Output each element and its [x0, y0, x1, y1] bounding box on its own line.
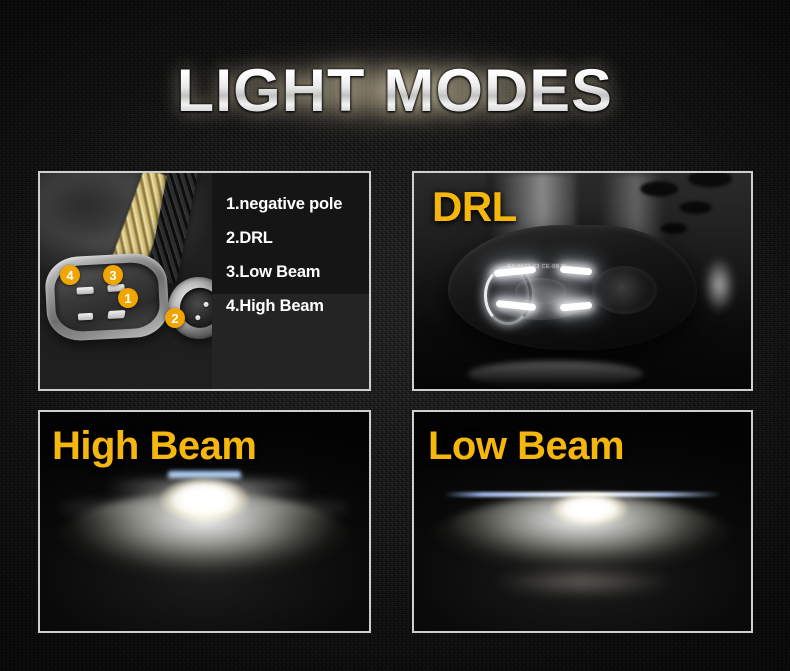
beam-hotspot	[549, 493, 630, 528]
page-title: LIGHT MODES	[177, 61, 613, 121]
lens-etching-text: E0 0674 03 CE-09 PL	[508, 264, 569, 270]
panel-label-drl: DRL	[432, 183, 517, 231]
legend-item: 1.negative pole	[226, 195, 369, 214]
beam-hotspot	[158, 478, 250, 526]
connector-pin	[203, 302, 209, 308]
beam-lower-falloff	[461, 570, 704, 609]
panel-label-high-beam: High Beam	[52, 424, 256, 469]
callout-badge-2: 2	[165, 308, 185, 328]
panel-connector-legend: 4 3 1 2 1.negative pole 2.DRL 3.Low Beam…	[38, 171, 371, 391]
connector-pin	[76, 287, 93, 295]
connector-pin	[78, 313, 93, 321]
callout-badge-4: 4	[60, 265, 80, 285]
panel-label-low-beam: Low Beam	[428, 424, 624, 469]
ground-reflection	[468, 361, 643, 387]
callout-badge-1: 1	[118, 288, 138, 308]
background-highlight	[697, 246, 741, 324]
connector-pin	[195, 315, 201, 321]
legend-item: 3.Low Beam	[226, 263, 369, 282]
panel-drl: E0 0674 03 CE-09 PL DRL	[412, 171, 753, 391]
legend-item: 4.High Beam	[226, 297, 369, 316]
connector-photo: 4 3 1 2	[40, 173, 212, 389]
lens-glow	[518, 272, 603, 330]
connector-pin	[107, 310, 125, 319]
panel-high-beam: High Beam	[38, 410, 371, 633]
headlight-housing: E0 0674 03 CE-09 PL	[448, 225, 697, 350]
legend-item: 2.DRL	[226, 229, 369, 248]
title-area: LIGHT MODES	[0, 52, 790, 130]
callout-badge-3: 3	[103, 265, 123, 285]
panel-low-beam: Low Beam	[412, 410, 753, 633]
legend-list: 1.negative pole 2.DRL 3.Low Beam 4.High …	[212, 173, 369, 389]
